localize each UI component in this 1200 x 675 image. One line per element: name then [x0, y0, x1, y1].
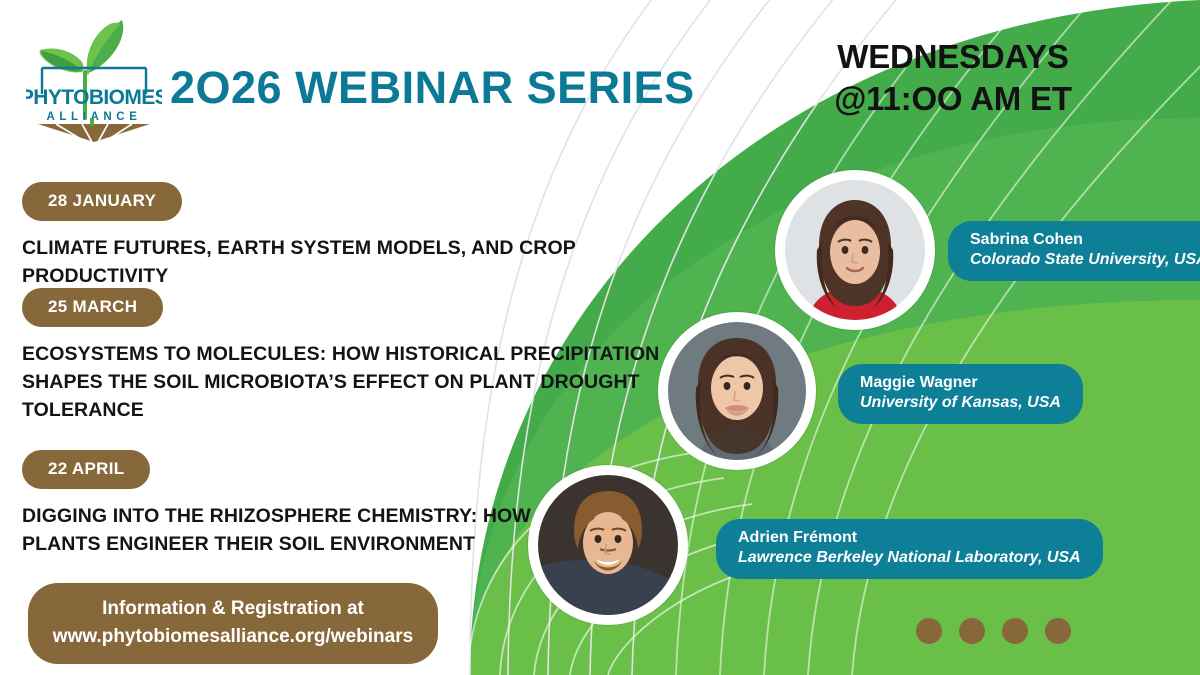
- registration-cta[interactable]: Information & Registration at www.phytob…: [28, 583, 438, 664]
- date-badge: 28 JANUARY: [22, 182, 182, 221]
- dot-icon: [959, 618, 985, 644]
- speaker-avatar-maggie-wagner: [658, 312, 816, 470]
- speaker-name: Maggie Wagner: [860, 373, 1061, 393]
- speaker-affiliation: Lawrence Berkeley National Laboratory, U…: [738, 548, 1081, 568]
- webinar-series-poster: PHYTOBIOMES ALLIANCE 2O26 WEBINAR SERIES…: [0, 0, 1200, 675]
- avatar-photo: [538, 475, 678, 615]
- speaker-label: Maggie Wagner University of Kansas, USA: [838, 364, 1083, 424]
- speaker-name: Adrien Frémont: [738, 528, 1081, 548]
- speaker-affiliation: Colorado State University, USA: [970, 250, 1200, 270]
- svg-text:PHYTOBIOMES: PHYTOBIOMES: [26, 86, 162, 109]
- decorative-dots: [916, 618, 1071, 644]
- schedule-time: @11:OO AM ET: [828, 78, 1078, 120]
- webinar-title: DIGGING INTO THE RHIZOSPHERE CHEMISTRY: …: [22, 503, 552, 559]
- speaker-name: Sabrina Cohen: [970, 230, 1200, 250]
- cta-url[interactable]: www.phytobiomesalliance.org/webinars: [48, 623, 418, 651]
- cta-line-1: Information & Registration at: [48, 595, 418, 623]
- avatar-photo: [668, 322, 806, 460]
- speaker-avatar-sabrina-cohen: [775, 170, 935, 330]
- schedule-note: WEDNESDAYS @11:OO AM ET: [828, 36, 1078, 120]
- webinar-title: CLIMATE FUTURES, EARTH SYSTEM MODELS, AN…: [22, 235, 722, 291]
- dot-icon: [1002, 618, 1028, 644]
- dot-icon: [916, 618, 942, 644]
- speaker-avatar-adrien-fremont: [528, 465, 688, 625]
- webinar-entry: 25 MARCH ECOSYSTEMS TO MOLECULES: HOW HI…: [22, 288, 667, 425]
- webinar-entry: 22 APRIL DIGGING INTO THE RHIZOSPHERE CH…: [22, 450, 552, 559]
- schedule-day: WEDNESDAYS: [828, 36, 1078, 78]
- webinar-entry: 28 JANUARY CLIMATE FUTURES, EARTH SYSTEM…: [22, 182, 722, 291]
- webinar-title: ECOSYSTEMS TO MOLECULES: HOW HISTORICAL …: [22, 341, 667, 425]
- date-badge: 25 MARCH: [22, 288, 163, 327]
- speaker-label: Adrien Frémont Lawrence Berkeley Nationa…: [716, 519, 1103, 579]
- speaker-affiliation: University of Kansas, USA: [860, 393, 1061, 413]
- phytobiomes-alliance-logo: PHYTOBIOMES ALLIANCE: [26, 14, 162, 142]
- dot-icon: [1045, 618, 1071, 644]
- date-badge: 22 APRIL: [22, 450, 150, 489]
- avatar-photo: [785, 180, 925, 320]
- speaker-label: Sabrina Cohen Colorado State University,…: [948, 221, 1200, 281]
- page-title: 2O26 WEBINAR SERIES: [170, 62, 695, 114]
